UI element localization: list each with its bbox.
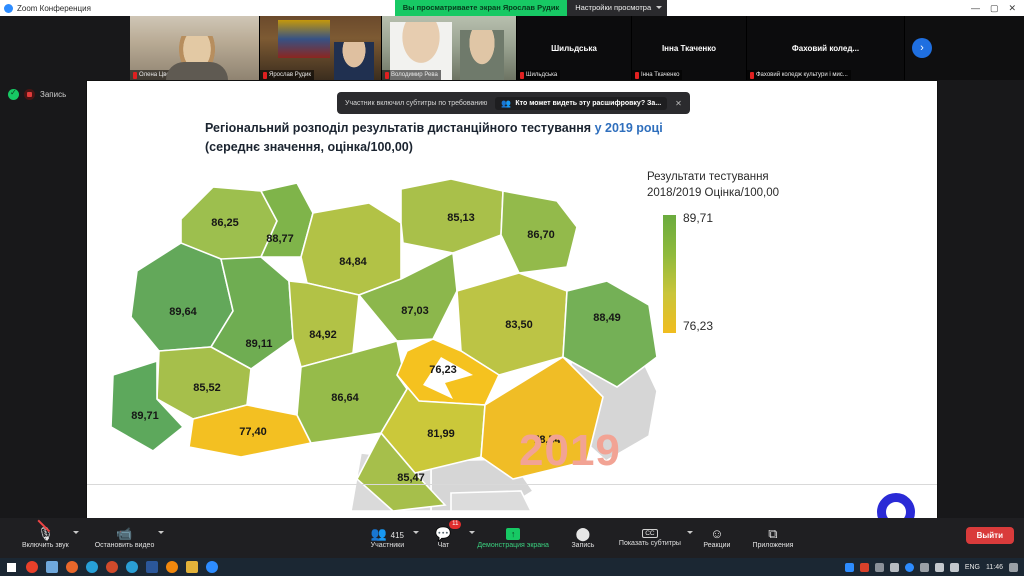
- participant-filmstrip[interactable]: Олена Цвєк Ярослав Рудик Володимир Рева …: [130, 16, 1024, 80]
- close-icon[interactable]: ✕: [675, 99, 682, 108]
- slide-title-main: Регіональний розподіл результатів дистан…: [205, 121, 591, 135]
- app-identity: Zoom Конференция: [0, 4, 91, 13]
- chevron-up-icon[interactable]: [158, 531, 164, 534]
- region-label: 84,92: [309, 329, 337, 341]
- volume-icon[interactable]: [950, 563, 959, 572]
- participant-name-bar: Фаховий коледж культури і мис...: [747, 70, 851, 80]
- tray-language[interactable]: ENG: [965, 564, 980, 571]
- mic-muted-icon: 🎙: [37, 527, 54, 540]
- captions-button[interactable]: CC Показать субтитры: [611, 518, 689, 558]
- participant-name-bar: Шильдська: [517, 70, 560, 80]
- share-screen-button[interactable]: ↑ Демонстрация экрана: [471, 518, 555, 558]
- mic-muted-icon: [385, 72, 389, 79]
- zoom-logo-icon: [4, 4, 13, 13]
- region-nodata: [451, 491, 531, 511]
- apps-icon: ⧉: [768, 527, 777, 540]
- taskbar-app-chrome-icon[interactable]: [62, 558, 82, 576]
- year-watermark: 2019: [519, 426, 621, 476]
- legend-min-value: 76,23: [683, 319, 713, 333]
- system-tray: ENG 11:46: [845, 563, 1024, 572]
- participant-name: Інна Ткаченко: [641, 72, 679, 78]
- participant-name: Олена Цвєк: [139, 72, 172, 78]
- region-label: 89,11: [246, 338, 273, 350]
- chevron-down-icon: [656, 6, 662, 9]
- video-button[interactable]: 📹 Остановить видео: [89, 518, 161, 558]
- mic-muted-icon: [635, 72, 639, 79]
- participant-name: Фаховий коледж культури і мис...: [756, 72, 848, 78]
- leave-meeting-button[interactable]: Выйти: [966, 527, 1014, 544]
- reactions-icon: ☺: [710, 527, 723, 540]
- participant-name-bar: Олена Цвєк: [130, 70, 175, 80]
- region-label: 86,70: [527, 229, 555, 241]
- apps-button[interactable]: ⧉ Приложения: [745, 518, 801, 558]
- camera-icon: 📹: [116, 527, 132, 540]
- captions-transcript-label: Кто может видеть эту расшифровку? За...: [515, 100, 661, 107]
- app-title: Zoom Конференция: [17, 4, 91, 13]
- recording-label: Запись: [40, 90, 66, 99]
- region-label: 77,40: [239, 426, 267, 438]
- usb-icon[interactable]: [890, 563, 899, 572]
- title-bar: Zoom Конференция Вы просматриваете экран…: [0, 0, 1024, 16]
- close-button[interactable]: ✕: [1008, 4, 1016, 13]
- chat-unread-badge: 11: [449, 520, 461, 529]
- participant-tile[interactable]: Олена Цвєк: [130, 16, 260, 80]
- participant-name: Володимир Рева: [391, 72, 438, 78]
- legend-gradient-bar: [663, 215, 676, 333]
- record-button[interactable]: ⬤ Запись: [555, 518, 611, 558]
- monitor-icon[interactable]: [845, 563, 854, 572]
- view-settings-label: Настройки просмотра: [575, 3, 651, 12]
- region-label: 85,47: [397, 472, 425, 484]
- legend-max-value: 89,71: [683, 211, 713, 225]
- region-label: 86,25: [211, 217, 239, 229]
- taskbar-app-explorer-icon[interactable]: [42, 558, 62, 576]
- record-label: Запись: [571, 542, 594, 549]
- slide-title-sub: (середнє значення, оцінка/100,00): [205, 140, 413, 154]
- windows-start-button[interactable]: [0, 558, 22, 576]
- legend-title-line2: 2018/2019 Оцінка/100,00: [647, 185, 897, 201]
- zoom-meeting-window: Zoom Конференция Вы просматриваете экран…: [0, 0, 1024, 576]
- taskbar-app-telegram-icon[interactable]: [122, 558, 142, 576]
- window-controls: — ▢ ✕: [971, 4, 1024, 13]
- region-label: 86,64: [331, 392, 359, 404]
- chat-label: Чат: [438, 542, 450, 549]
- taskbar-app-chrome-window-icon[interactable]: [102, 558, 122, 576]
- participant-name: Ярослав Рудик: [269, 72, 311, 78]
- people-icon: 👥 415: [371, 527, 404, 540]
- legend-title-line1: Результати тестування: [647, 169, 897, 185]
- region-label: 87,03: [401, 305, 429, 317]
- lock-icon[interactable]: [920, 563, 929, 572]
- reactions-label: Реакции: [703, 542, 730, 549]
- share-screen-icon: ↑: [506, 528, 520, 540]
- maximize-button[interactable]: ▢: [990, 4, 999, 13]
- printer-icon[interactable]: [875, 563, 884, 572]
- captions-toast-message: Участник включил субтитры по требованию: [345, 100, 487, 107]
- view-settings-button[interactable]: Настройки просмотра: [567, 0, 667, 16]
- chevron-right-icon: ›: [912, 38, 932, 58]
- reactions-button[interactable]: ☺ Реакции: [689, 518, 745, 558]
- windows-icon: [7, 563, 16, 572]
- mic-muted-icon: [133, 72, 137, 79]
- captions-toast: Участник включил субтитры по требованию …: [337, 92, 690, 114]
- mic-muted-icon: [263, 72, 267, 79]
- participant-name: Шильдська: [526, 72, 557, 78]
- zoom-tray-icon[interactable]: [905, 563, 914, 572]
- taskbar-app-folder-icon[interactable]: [182, 558, 202, 576]
- mic-button[interactable]: 🎙 Включить звук: [16, 518, 75, 558]
- windows-taskbar: ENG 11:46: [0, 558, 1024, 576]
- share-status-area: Вы просматриваете экран Ярослав Рудик На…: [91, 0, 971, 16]
- record-stop-icon[interactable]: [24, 89, 35, 100]
- chat-icon: 💬: [435, 527, 451, 540]
- region-label: 89,64: [169, 306, 197, 318]
- participants-count: 415: [391, 531, 404, 540]
- region-label: 85,13: [447, 212, 475, 224]
- participant-name-bar: Володимир Рева: [382, 70, 441, 80]
- region-label: 88,77: [266, 233, 294, 245]
- region-label: 81,99: [427, 428, 455, 440]
- share-screen-label: Демонстрация экрана: [477, 542, 549, 549]
- participants-button[interactable]: 👥 415 Участники: [359, 518, 415, 558]
- record-icon: ⬤: [576, 527, 591, 540]
- captions-label: Показать субтитры: [619, 540, 681, 547]
- network-icon[interactable]: [935, 563, 944, 572]
- participant-tile[interactable]: Інна Ткаченко Інна Ткаченко: [632, 16, 747, 80]
- mic-muted-icon: [750, 72, 754, 79]
- taskbar-app-edge-icon[interactable]: [82, 558, 102, 576]
- region-label: 83,50: [505, 319, 533, 331]
- taskbar-app-opera-icon[interactable]: [22, 558, 42, 576]
- taskbar-app-word-icon[interactable]: [142, 558, 162, 576]
- region-label: 84,84: [339, 256, 367, 268]
- security-shield-icon: [8, 89, 19, 100]
- minimize-button[interactable]: —: [971, 4, 980, 13]
- slide-title-highlight: у 2019 році: [595, 121, 663, 135]
- chat-button[interactable]: 💬 11 Чат: [415, 518, 471, 558]
- shared-screen-content: Участник включил субтитры по требованию …: [86, 80, 938, 533]
- chevron-up-icon[interactable]: [73, 531, 79, 534]
- participant-tile[interactable]: Шильдська Шильдська: [517, 16, 632, 80]
- slide-title: Регіональний розподіл результатів дистан…: [205, 119, 845, 158]
- warning-icon[interactable]: [860, 563, 869, 572]
- cc-icon: CC: [642, 529, 657, 538]
- captions-transcript-button[interactable]: 👥 Кто может видеть эту расшифровку? За..…: [495, 97, 667, 110]
- slide-divider: [87, 484, 937, 485]
- people-icon: 👥: [501, 99, 511, 108]
- mic-label: Включить звук: [22, 542, 69, 549]
- participants-label: Участники: [371, 542, 404, 549]
- screen-share-banner: Вы просматриваете экран Ярослав Рудик: [395, 0, 567, 16]
- participant-tile[interactable]: Ярослав Рудик: [260, 16, 382, 80]
- tray-clock[interactable]: 11:46: [986, 564, 1003, 571]
- taskbar-app-firefox-icon[interactable]: [162, 558, 182, 576]
- mic-muted-icon: [520, 72, 524, 79]
- video-label: Остановить видео: [95, 542, 155, 549]
- region-label: 88,49: [593, 312, 621, 324]
- map-legend: Результати тестування 2018/2019 Оцінка/1…: [647, 169, 897, 335]
- participant-tile[interactable]: Фаховий колед... Фаховий коледж культури…: [747, 16, 905, 80]
- region-84-84: [301, 203, 401, 295]
- participant-name-bar: Інна Ткаченко: [632, 70, 682, 80]
- region-label: 89,71: [131, 410, 159, 422]
- taskbar-app-zoom-icon[interactable]: [202, 558, 222, 576]
- filmstrip-next-button[interactable]: ›: [905, 16, 939, 80]
- region-label: 85,52: [193, 382, 221, 394]
- participant-name-bar: Ярослав Рудик: [260, 70, 314, 80]
- region-label: 76,23: [429, 364, 457, 376]
- participant-tile[interactable]: Володимир Рева: [382, 16, 517, 80]
- notification-icon[interactable]: [1009, 563, 1018, 572]
- meeting-toolbar: 🎙 Включить звук 📹 Остановить видео 👥 415…: [0, 518, 1024, 558]
- apps-label: Приложения: [752, 542, 793, 549]
